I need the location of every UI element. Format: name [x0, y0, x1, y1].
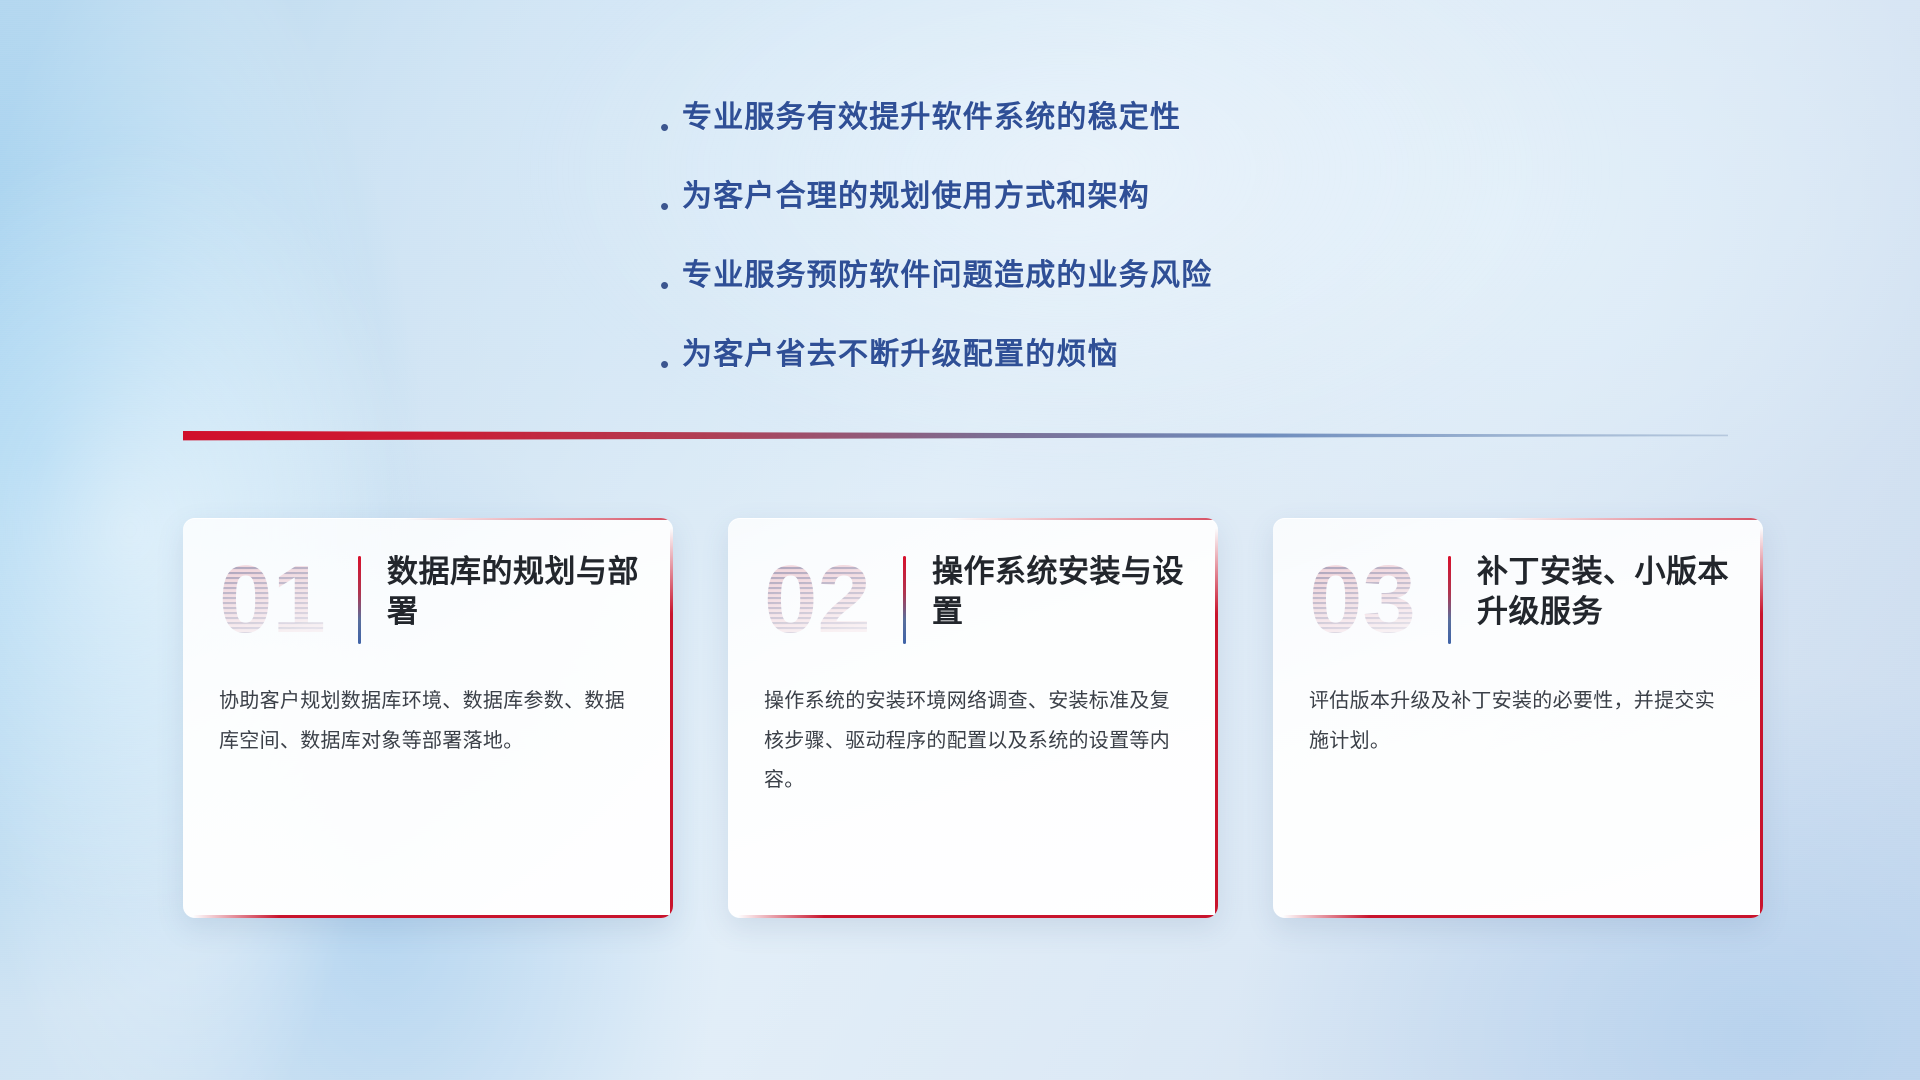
bullet-item: • 为客户省去不断升级配置的烦恼	[660, 335, 1420, 377]
card-title: 操作系统安装与设置	[932, 548, 1190, 631]
card-title-rule	[358, 556, 361, 644]
card-title-rule	[903, 556, 906, 644]
card-body-text: 操作系统的安装环境网络调查、安装标准及复核步骤、驱动程序的配置以及系统的设置等内…	[728, 668, 1218, 801]
bullet-text: 为客户省去不断升级配置的烦恼	[682, 335, 1119, 374]
slide-canvas: • 专业服务有效提升软件系统的稳定性 • 为客户合理的规划使用方式和架构 • 专…	[0, 0, 1920, 1080]
card-accent-top	[1494, 518, 1764, 520]
card-accent-right	[1760, 528, 1763, 918]
bullet-list: • 专业服务有效提升软件系统的稳定性 • 为客户合理的规划使用方式和架构 • 专…	[660, 98, 1420, 414]
bullet-item: • 专业服务有效提升软件系统的稳定性	[660, 98, 1420, 140]
bullet-marker-icon: •	[660, 114, 682, 140]
service-card[interactable]: 03 补丁安装、小版本升级服务 评估版本升级及补丁安装的必要性，并提交实施计划。	[1273, 518, 1763, 918]
card-title: 补丁安装、小版本升级服务	[1477, 548, 1735, 631]
card-header: 01 数据库的规划与部署	[183, 518, 673, 668]
card-number-striped-icon: 02	[762, 552, 897, 652]
service-card-list: 01 数据库的规划与部署 协助客户规划数据库环境、数据库参数、数据库空间、数据库…	[183, 518, 1763, 918]
bullet-text: 专业服务有效提升软件系统的稳定性	[682, 98, 1181, 137]
card-accent-top	[404, 518, 674, 520]
card-header: 03 补丁安装、小版本升级服务	[1273, 518, 1763, 668]
card-accent-bottom	[738, 915, 1218, 918]
bullet-marker-icon: •	[660, 272, 682, 298]
card-accent-right	[670, 528, 673, 918]
card-body-text: 协助客户规划数据库环境、数据库参数、数据库空间、数据库对象等部署落地。	[183, 668, 673, 761]
bullet-text: 为客户合理的规划使用方式和架构	[682, 177, 1150, 216]
bullet-marker-icon: •	[660, 193, 682, 219]
bullet-item: • 为客户合理的规划使用方式和架构	[660, 177, 1420, 219]
card-title-rule	[1448, 556, 1451, 644]
card-accent-bottom	[1283, 915, 1763, 918]
card-accent-right	[1215, 528, 1218, 918]
card-body-text: 评估版本升级及补丁安装的必要性，并提交实施计划。	[1273, 668, 1763, 761]
card-header: 02 操作系统安装与设置	[728, 518, 1218, 668]
card-title: 数据库的规划与部署	[387, 548, 645, 631]
bullet-text: 专业服务预防软件问题造成的业务风险	[682, 256, 1212, 295]
bullet-marker-icon: •	[660, 351, 682, 377]
card-accent-bottom	[193, 915, 673, 918]
bullet-item: • 专业服务预防软件问题造成的业务风险	[660, 256, 1420, 298]
service-card[interactable]: 02 操作系统安装与设置 操作系统的安装环境网络调查、安装标准及复核步骤、驱动程…	[728, 518, 1218, 918]
card-number-striped-icon: 01	[217, 552, 352, 652]
service-card[interactable]: 01 数据库的规划与部署 协助客户规划数据库环境、数据库参数、数据库空间、数据库…	[183, 518, 673, 918]
section-divider	[183, 427, 1728, 443]
card-accent-top	[949, 518, 1219, 520]
card-number-striped-icon: 03	[1307, 552, 1442, 652]
